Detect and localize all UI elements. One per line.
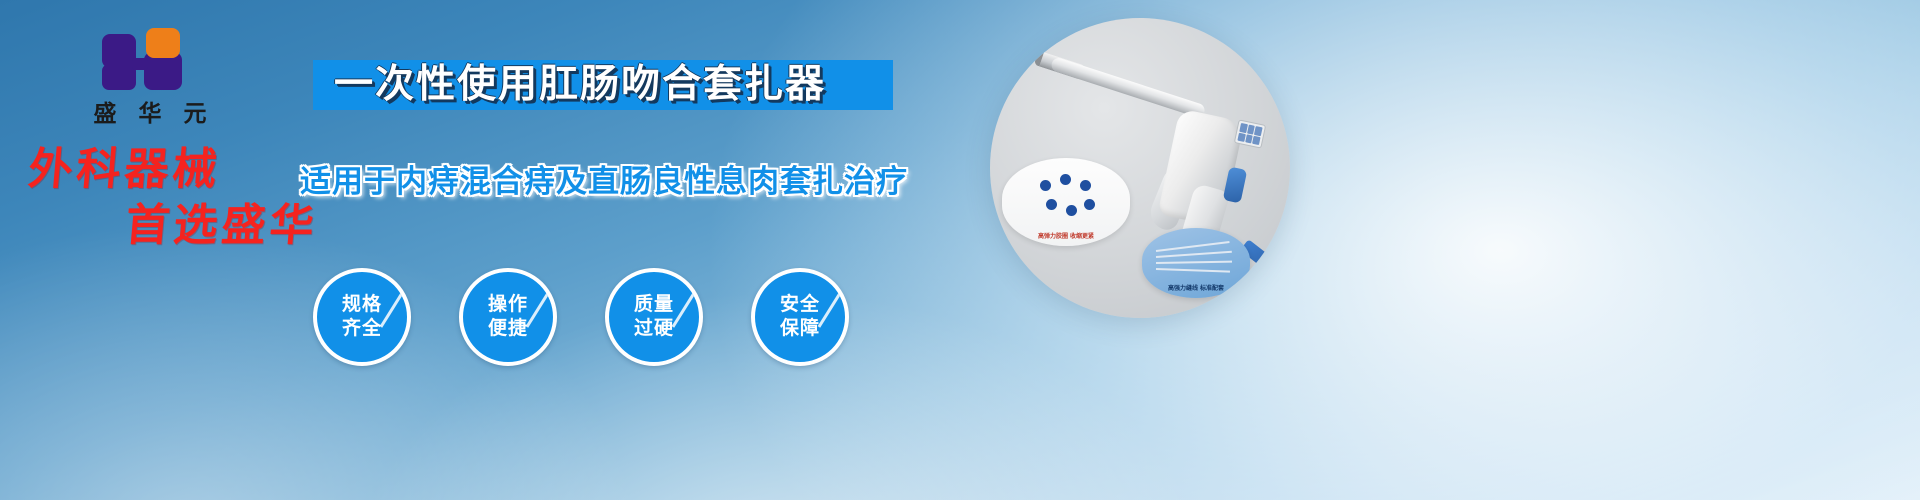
logo-block-center	[132, 58, 148, 70]
product-photo[interactable]: 高弹力胶圈 收缩更紧 高强力缝线 标准配套	[990, 18, 1290, 318]
slash-decoration-icon	[672, 292, 696, 328]
needles-inset: 高强力缝线 标准配套	[1142, 228, 1250, 298]
feature-circle-2-line-1: 操作	[488, 293, 528, 317]
logo-block-bottom-left	[102, 64, 136, 90]
logo-block-orange	[146, 28, 180, 58]
feature-circle-1-line-1: 规格	[342, 293, 382, 317]
feature-circle-3-line-1: 质量	[634, 293, 674, 317]
page-subtitle: 适用于内痔混合痔及直肠良性息肉套扎治疗	[300, 156, 940, 201]
logo-block-top-left	[102, 34, 136, 68]
logo-wordmark: 盛 华 元	[70, 94, 230, 128]
slash-decoration-icon	[526, 292, 550, 328]
product-photo-content: 高弹力胶圈 收缩更紧 高强力缝线 标准配套	[990, 18, 1290, 318]
promo-banner: 盛 华 元 外科器械 首选盛华 一次性使用肛肠吻合套扎器 适用于内痔混合痔及直肠…	[0, 0, 1920, 500]
slash-decoration-icon	[380, 292, 404, 328]
feature-circle-4[interactable]: 安全 保障	[751, 268, 849, 366]
feature-circle-3[interactable]: 质量 过硬	[605, 268, 703, 366]
needles-caption: 高强力缝线 标准配套	[1142, 283, 1250, 292]
feature-circle-1-line-2: 齐全	[342, 317, 382, 341]
device-barrel	[1050, 56, 1206, 119]
logo-mark-icon	[102, 28, 198, 90]
slash-decoration-icon	[818, 292, 842, 328]
brand-logo[interactable]: 盛 华 元	[70, 28, 230, 128]
page-title: 一次性使用肛肠吻合套扎器	[334, 57, 894, 113]
brush-slogan-line-2: 首选盛华	[14, 204, 348, 248]
feature-circle-2[interactable]: 操作 便捷	[459, 268, 557, 366]
rubber-rings-inset: 高弹力胶圈 收缩更紧	[1002, 158, 1130, 246]
sleeve-inset	[1176, 304, 1290, 318]
feature-circle-1[interactable]: 规格 齐全	[313, 268, 411, 366]
feature-circle-2-line-2: 便捷	[488, 317, 528, 341]
feature-circle-list: 规格 齐全 操作 便捷 质量 过硬 安全 保障	[313, 268, 849, 366]
feature-circle-4-line-1: 安全	[780, 293, 820, 317]
rubber-rings-caption: 高弹力胶圈 收缩更紧	[1002, 231, 1130, 240]
feature-circle-4-line-2: 保障	[780, 317, 820, 341]
feature-circle-3-line-2: 过硬	[634, 317, 674, 341]
rubber-rings-icon	[1036, 174, 1096, 218]
